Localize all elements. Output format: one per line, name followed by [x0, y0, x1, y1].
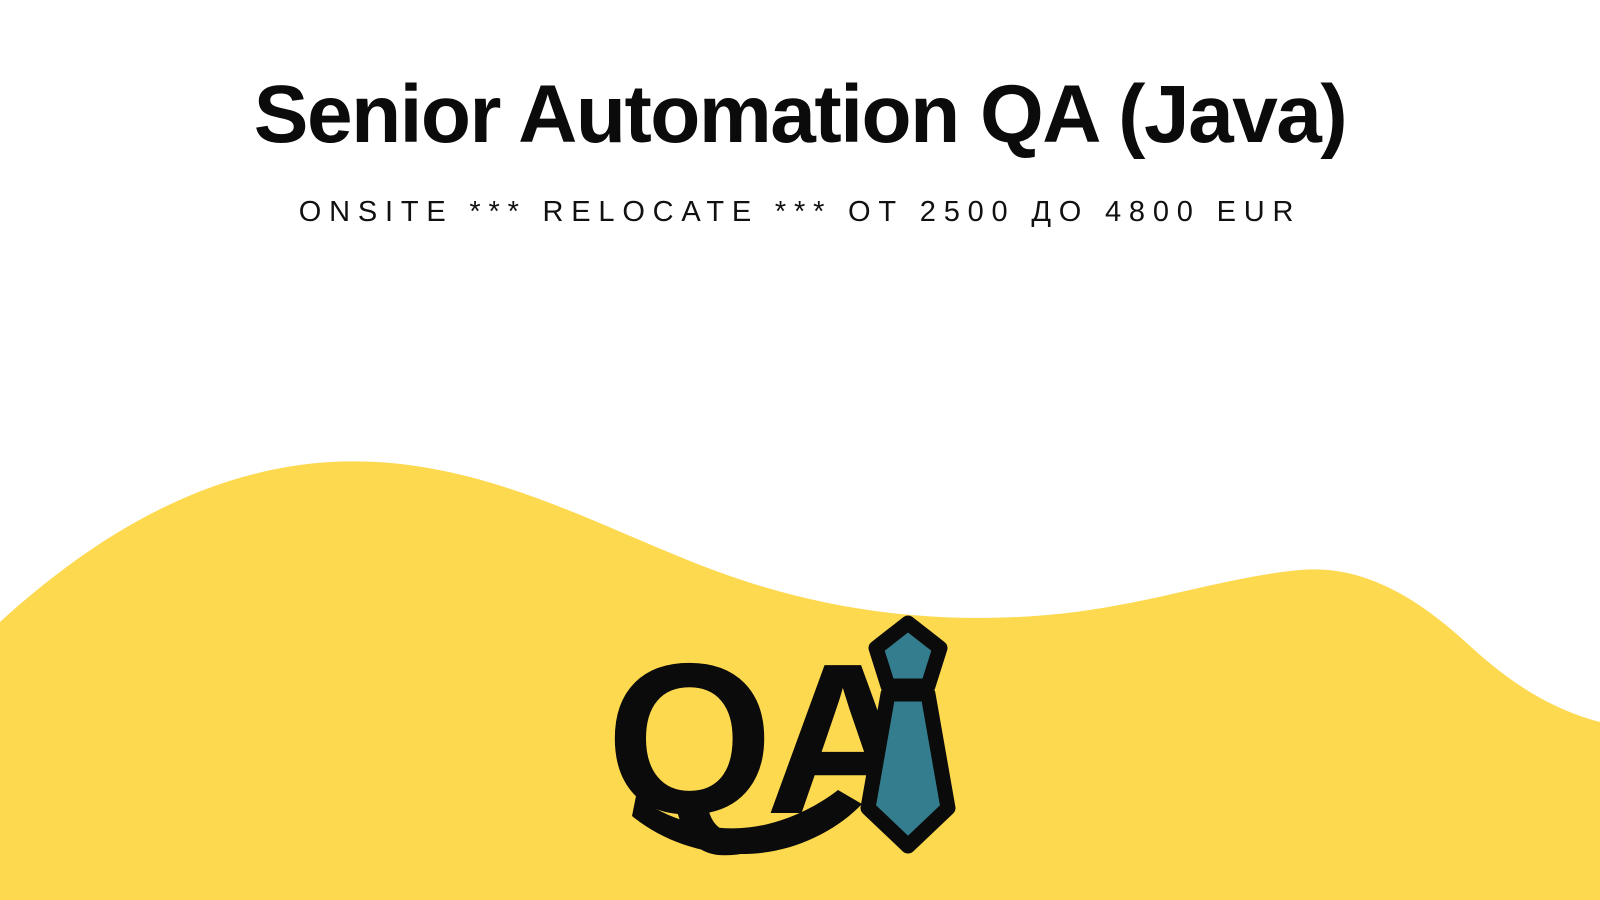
- header-block: Senior Automation QA (Java) ONSITE *** R…: [0, 0, 1600, 227]
- qa-logo-graphic: QA: [600, 608, 1000, 868]
- page-title: Senior Automation QA (Java): [0, 74, 1600, 156]
- necktie-knot-shape: [876, 623, 940, 686]
- qa-logo: QA: [600, 608, 1000, 868]
- job-subtitle: ONSITE *** RELOCATE *** ОТ 2500 ДО 4800 …: [0, 156, 1600, 227]
- job-poster: Senior Automation QA (Java) ONSITE *** R…: [0, 0, 1600, 900]
- necktie-blade-shape: [868, 694, 948, 846]
